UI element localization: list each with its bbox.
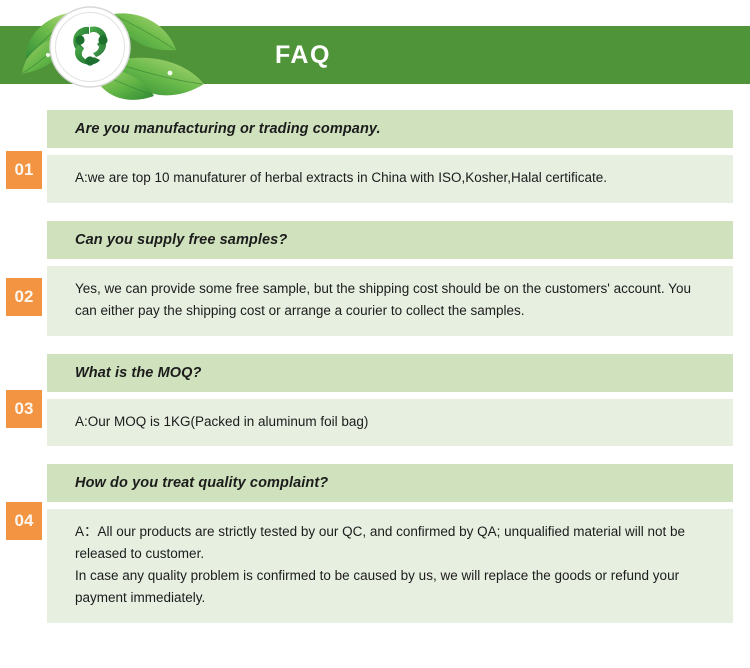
faq-answer: Yes, we can provide some free sample, bu… — [47, 266, 733, 336]
faq-answer: A:we are top 10 manufaturer of herbal ex… — [47, 155, 733, 203]
leaf-recycle-emblem-icon — [18, 0, 228, 110]
page-header: FAQ — [0, 0, 750, 110]
leaf-dew-dot — [168, 71, 173, 76]
faq-answer-line: A:we are top 10 manufaturer of herbal ex… — [75, 167, 709, 189]
faq-answer-line: Yes, we can provide some free sample, bu… — [75, 278, 709, 322]
faq-item: 01 Are you manufacturing or trading comp… — [0, 110, 750, 203]
faq-question[interactable]: What is the MOQ? — [47, 354, 733, 392]
faq-answer: A：All our products are strictly tested b… — [47, 509, 733, 622]
leaf-dew-dot — [46, 53, 50, 57]
faq-list: 01 Are you manufacturing or trading comp… — [0, 110, 750, 641]
faq-question[interactable]: Can you supply free samples? — [47, 221, 733, 259]
faq-answer: A:Our MOQ is 1KG(Packed in aluminum foil… — [47, 399, 733, 447]
faq-item: 04 How do you treat quality complaint? A… — [0, 464, 750, 622]
faq-item: 02 Can you supply free samples? Yes, we … — [0, 221, 750, 336]
faq-item: 03 What is the MOQ? A:Our MOQ is 1KG(Pac… — [0, 354, 750, 447]
faq-number-badge: 04 — [6, 502, 42, 540]
faq-number-badge: 01 — [6, 151, 42, 189]
faq-answer-line: In case any quality problem is confirmed… — [75, 565, 709, 609]
company-logo — [18, 0, 228, 110]
faq-body: What is the MOQ? A:Our MOQ is 1KG(Packed… — [47, 354, 733, 447]
faq-answer-line: A:Our MOQ is 1KG(Packed in aluminum foil… — [75, 411, 709, 433]
page-title: FAQ — [275, 26, 331, 84]
faq-body: Can you supply free samples? Yes, we can… — [47, 221, 733, 336]
faq-question[interactable]: Are you manufacturing or trading company… — [47, 110, 733, 148]
faq-number-badge: 02 — [6, 278, 42, 316]
faq-answer-line: A：All our products are strictly tested b… — [75, 521, 709, 565]
emblem-inner-ring — [56, 13, 125, 82]
faq-body: How do you treat quality complaint? A：Al… — [47, 464, 733, 622]
faq-number-badge: 03 — [6, 390, 42, 428]
faq-question[interactable]: How do you treat quality complaint? — [47, 464, 733, 502]
faq-body: Are you manufacturing or trading company… — [47, 110, 733, 203]
